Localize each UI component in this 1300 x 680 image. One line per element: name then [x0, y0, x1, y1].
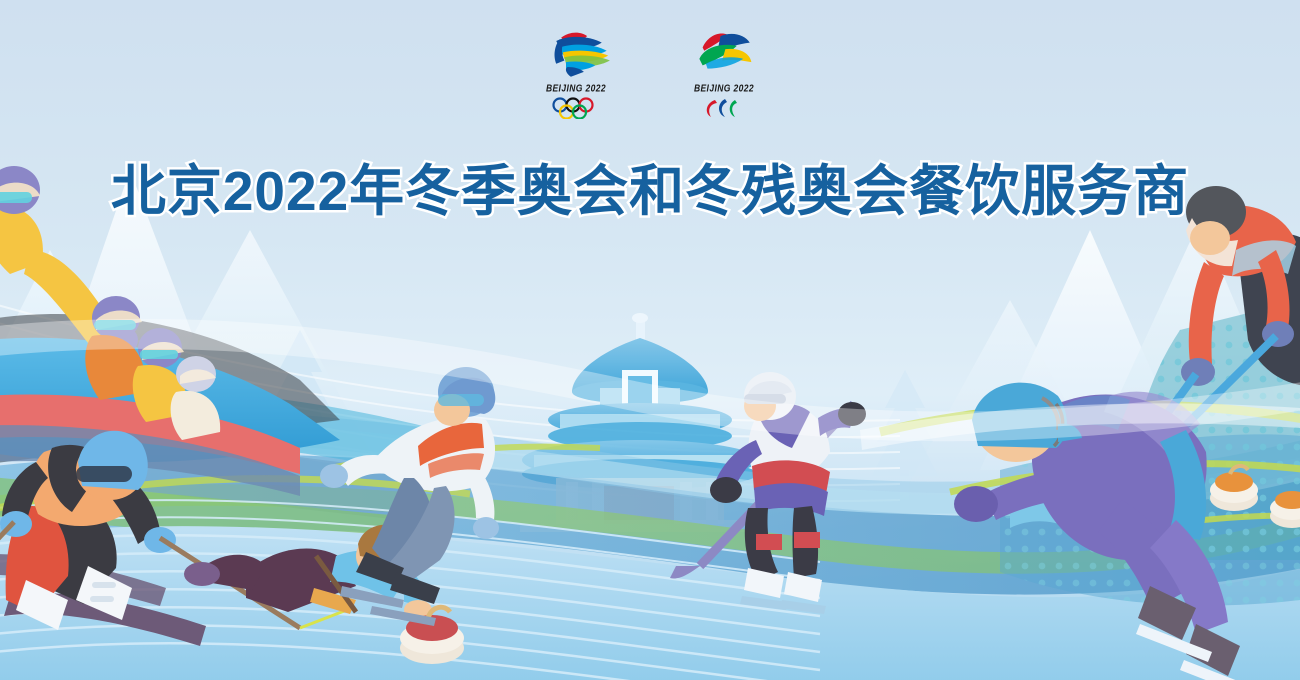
page-title: 北京2022年冬季奥会和冬残奥会餐饮服务商 — [0, 146, 1300, 226]
olympic-wordmark: BEIJING 2022 — [546, 82, 606, 94]
beijing-2022-banner: BEIJING 2022 BEIJING 2022 — [0, 0, 1300, 680]
beijing-2022-olympic-emblem: BEIJING 2022 — [528, 28, 624, 119]
paralympic-winter-emblem-icon — [675, 28, 773, 80]
olympic-winter-emblem-icon — [527, 28, 625, 80]
emblem-row: BEIJING 2022 BEIJING 2022 — [0, 28, 1300, 119]
beijing-2022-paralympic-emblem: BEIJING 2022 — [676, 28, 772, 119]
olympic-rings-icon — [550, 97, 602, 119]
agitos-icon — [701, 97, 747, 119]
paralympic-wordmark: BEIJING 2022 — [694, 82, 754, 94]
